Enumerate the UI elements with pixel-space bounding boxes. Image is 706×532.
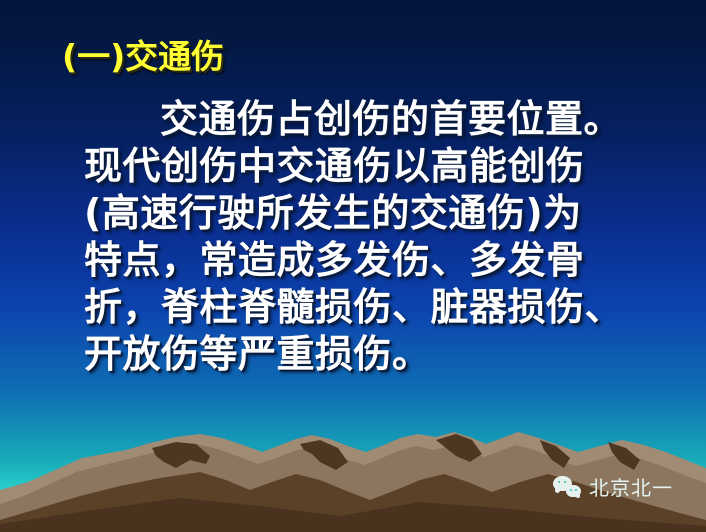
slide-body: 交通伤占创伤的首要位置。 现代创伤中交通伤以高能创伤 (高速行驶所发生的交通伤)… <box>84 96 684 378</box>
body-line: (高速行驶所发生的交通伤)为 <box>84 190 684 237</box>
wechat-icon <box>553 476 582 500</box>
presentation-slide: (一)交通伤 交通伤占创伤的首要位置。 现代创伤中交通伤以高能创伤 (高速行驶所… <box>0 0 706 532</box>
body-line: 交通伤占创伤的首要位置。 <box>84 96 684 143</box>
wechat-bubble-small-tail <box>576 494 580 498</box>
wechat-bubble-large-tail <box>555 488 560 493</box>
slide-title: (一)交通伤 <box>62 40 224 73</box>
watermark: 北京北一 <box>553 476 673 500</box>
body-line: 现代创伤中交通伤以高能创伤 <box>84 143 684 190</box>
body-line: 特点，常造成多发伤、多发骨 <box>84 237 684 284</box>
mountain-terrain-graphic <box>0 412 706 532</box>
body-line: 开放伤等严重损伤。 <box>84 331 684 378</box>
body-line: 折，脊柱脊髓损伤、脏器损伤、 <box>84 284 684 331</box>
watermark-label: 北京北一 <box>589 478 673 498</box>
